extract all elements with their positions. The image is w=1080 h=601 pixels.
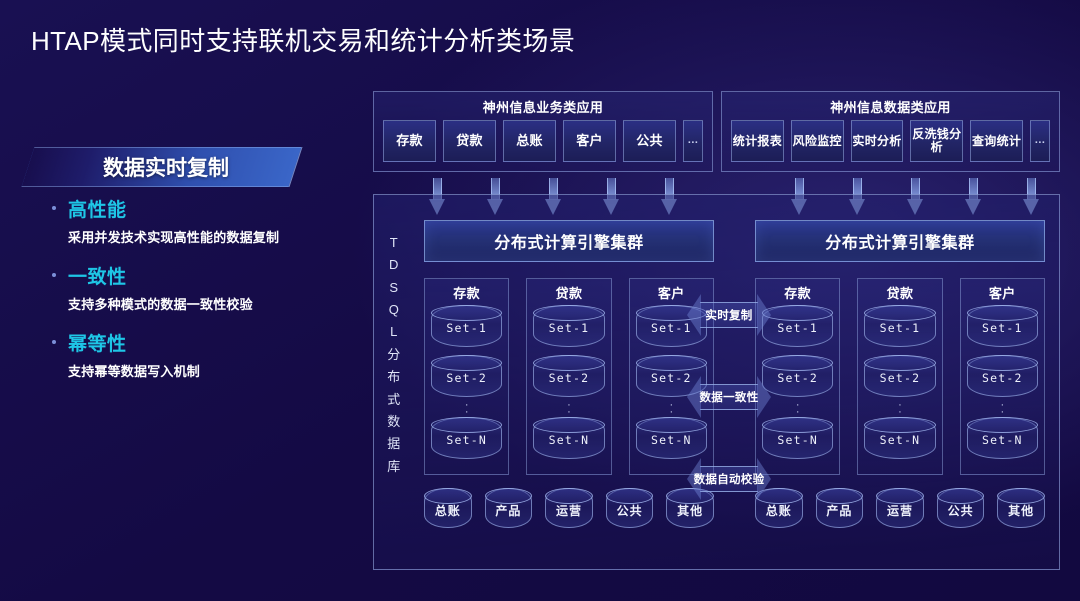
bullet-dot-icon	[52, 340, 56, 344]
vertical-dots-icon: ··	[533, 402, 604, 416]
tdsql-vertical-text: TDSQL分布式数据库	[382, 232, 406, 478]
app-cell[interactable]: 风险监控	[791, 120, 844, 162]
feature-desc: 采用并发技术实现高性能的数据复制	[68, 227, 352, 246]
app-group-title: 神州信息数据类应用	[722, 92, 1059, 120]
set-column-title: 贷款	[864, 283, 935, 302]
bottom-cylinder-row: 总账 产品 运营 公共 其他	[424, 488, 714, 528]
app-group-business: 神州信息业务类应用 存款 贷款 总账 客户 公共 …	[373, 91, 713, 172]
set-cylinder[interactable]: Set-N	[864, 417, 935, 459]
page-title: HTAP模式同时支持联机交易和统计分析类场景	[31, 21, 575, 58]
set-cylinder[interactable]: Set-1	[864, 305, 935, 347]
set-cylinder[interactable]: Set-2	[762, 355, 833, 397]
bi-arrow-auto-verification: 数据自动校验	[687, 458, 771, 500]
vertical-dots-icon: ··	[967, 402, 1038, 416]
set-cylinder[interactable]: Set-1	[431, 305, 502, 347]
bi-arrow-label: 实时复制	[687, 294, 771, 336]
app-cell[interactable]: 客户	[563, 120, 616, 162]
cluster-left: 分布式计算引擎集群 存款 Set-1 Set-2 ·· Set-N 贷款 Set…	[424, 220, 714, 528]
feature-list: 高性能 采用并发技术实现高性能的数据复制 一致性 支持多种模式的数据一致性校验 …	[52, 195, 352, 396]
feature-desc: 支持多种模式的数据一致性校验	[68, 294, 352, 313]
db-cylinder[interactable]: 产品	[816, 488, 864, 528]
set-cylinder[interactable]: Set-2	[533, 355, 604, 397]
set-column: 客户 Set-1 Set-2 ·· Set-N	[960, 278, 1045, 475]
app-group-data: 神州信息数据类应用 统计报表 风险监控 实时分析 反洗钱分析 查询统计 …	[721, 91, 1060, 172]
db-cylinder[interactable]: 运营	[876, 488, 924, 528]
feature-term: 高性能	[68, 195, 127, 222]
bullet-dot-icon	[52, 206, 56, 210]
app-cell[interactable]: 反洗钱分析	[910, 120, 963, 162]
bullet-dot-icon	[52, 273, 56, 277]
set-column: 存款 Set-1 Set-2 ·· Set-N	[424, 278, 509, 475]
set-cylinder[interactable]: Set-N	[762, 417, 833, 459]
section-banner: 数据实时复制	[28, 147, 296, 187]
engine-bar[interactable]: 分布式计算引擎集群	[755, 220, 1045, 262]
bottom-cylinder-row: 总账 产品 运营 公共 其他	[755, 488, 1045, 528]
banner-label: 数据实时复制	[28, 152, 296, 182]
app-cell[interactable]: 实时分析	[851, 120, 904, 162]
set-cylinder[interactable]: Set-1	[762, 305, 833, 347]
db-cylinder[interactable]: 运营	[545, 488, 593, 528]
app-cell[interactable]: 存款	[383, 120, 436, 162]
bi-arrow-label: 数据一致性	[687, 376, 771, 418]
set-cylinder[interactable]: Set-1	[967, 305, 1038, 347]
bi-arrow-label: 数据自动校验	[687, 458, 771, 500]
app-cell-more[interactable]: …	[683, 120, 703, 162]
db-cylinder[interactable]: 其他	[997, 488, 1045, 528]
cluster-right: 分布式计算引擎集群 存款 Set-1 Set-2 ·· Set-N 贷款 Set…	[755, 220, 1045, 528]
app-cell[interactable]: 总账	[503, 120, 556, 162]
feature-item-2: 幂等性 支持幂等数据写入机制	[52, 329, 352, 380]
app-cell[interactable]: 贷款	[443, 120, 496, 162]
app-group-title: 神州信息业务类应用	[374, 92, 712, 120]
set-cylinder[interactable]: Set-2	[864, 355, 935, 397]
set-cylinder[interactable]: Set-N	[431, 417, 502, 459]
set-column: 贷款 Set-1 Set-2 ·· Set-N	[526, 278, 611, 475]
app-cell-row: 存款 贷款 总账 客户 公共 …	[374, 120, 712, 171]
set-column-group: 存款 Set-1 Set-2 ·· Set-N 贷款 Set-1 Set-2 ·…	[755, 278, 1045, 475]
tdsql-vertical-label: TDSQL分布式数据库	[382, 232, 406, 478]
vertical-dots-icon: ··	[864, 402, 935, 416]
set-cylinder[interactable]: Set-2	[431, 355, 502, 397]
set-cylinder[interactable]: Set-1	[533, 305, 604, 347]
set-column-group: 存款 Set-1 Set-2 ·· Set-N 贷款 Set-1 Set-2 ·…	[424, 278, 714, 475]
app-cell-row: 统计报表 风险监控 实时分析 反洗钱分析 查询统计 …	[722, 120, 1059, 171]
app-cell-more[interactable]: …	[1030, 120, 1050, 162]
set-column-title: 存款	[762, 283, 833, 302]
db-cylinder[interactable]: 总账	[424, 488, 472, 528]
feature-item-0: 高性能 采用并发技术实现高性能的数据复制	[52, 195, 352, 246]
app-cell[interactable]: 查询统计	[970, 120, 1023, 162]
db-cylinder[interactable]: 公共	[606, 488, 654, 528]
bi-arrow-data-consistency: 数据一致性	[687, 376, 771, 418]
feature-item-1: 一致性 支持多种模式的数据一致性校验	[52, 262, 352, 313]
app-cell[interactable]: 公共	[623, 120, 676, 162]
set-column-title: 客户	[967, 283, 1038, 302]
feature-term: 一致性	[68, 262, 127, 289]
vertical-dots-icon: ··	[431, 402, 502, 416]
engine-bar[interactable]: 分布式计算引擎集群	[424, 220, 714, 262]
set-column: 贷款 Set-1 Set-2 ·· Set-N	[857, 278, 942, 475]
set-column-title: 贷款	[533, 283, 604, 302]
db-cylinder[interactable]: 公共	[937, 488, 985, 528]
feature-term: 幂等性	[68, 329, 127, 356]
set-cylinder[interactable]: Set-N	[967, 417, 1038, 459]
vertical-dots-icon: ··	[762, 402, 833, 416]
set-cylinder[interactable]: Set-N	[636, 417, 707, 459]
db-cylinder[interactable]: 产品	[485, 488, 533, 528]
set-cylinder[interactable]: Set-N	[533, 417, 604, 459]
set-cylinder[interactable]: Set-2	[967, 355, 1038, 397]
app-cell[interactable]: 统计报表	[731, 120, 784, 162]
set-column-title: 存款	[431, 283, 502, 302]
feature-desc: 支持幂等数据写入机制	[68, 361, 352, 380]
slide-canvas: HTAP模式同时支持联机交易和统计分析类场景 数据实时复制 高性能 采用并发技术…	[0, 0, 1080, 601]
bi-arrow-realtime-replication: 实时复制	[687, 294, 771, 336]
